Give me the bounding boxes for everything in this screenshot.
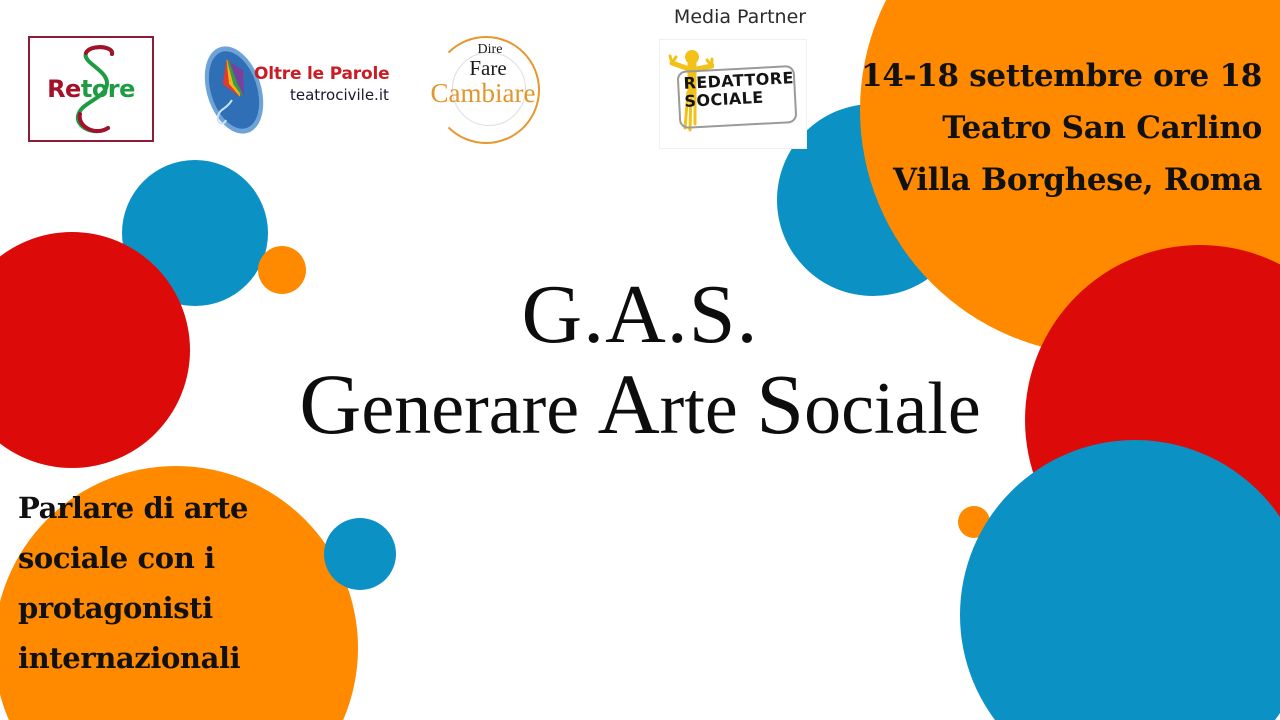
tagline: Parlare di arte sociale con i protagonis… (18, 483, 308, 683)
kite-icon (196, 42, 274, 138)
title-cap-g: G (299, 356, 361, 452)
event-details: 14-18 settembre ore 18 Teatro San Carlin… (861, 50, 1262, 206)
event-location-line: Villa Borghese, Roma (861, 154, 1262, 206)
circle-teal-small-bottom (324, 518, 396, 590)
oltre-le-parole-subtitle: teatrocivile.it (290, 86, 389, 104)
event-venue-line: Teatro San Carlino (861, 102, 1262, 154)
restore-wordmark: Retore (47, 75, 135, 103)
title-acronym: G.A.S. (0, 272, 1280, 358)
media-partner-block: Media Partner REDATTORE SOCIALE (650, 6, 830, 154)
redattore-sociale-logo: REDATTORE SOCIALE (659, 39, 807, 149)
title-rest-rte: rte (660, 368, 757, 450)
logo-restore: Retore (28, 36, 154, 142)
logo-strip: Retore Oltre le Parole teatrocivile.it (0, 0, 840, 160)
title-rest-ociale: ociale (804, 368, 981, 450)
logo-oltre-le-parole: Oltre le Parole teatrocivile.it (196, 42, 392, 138)
title-expansion: Generare Arte Sociale (0, 364, 1280, 449)
redattore-sociale-wordmark: REDATTORE SOCIALE (683, 69, 795, 111)
event-poster: Retore Oltre le Parole teatrocivile.it (0, 0, 1280, 720)
circle-teal-bottom-right (960, 440, 1280, 720)
page-title: G.A.S. Generare Arte Sociale (0, 272, 1280, 449)
restore-wordmark-tore: tore (81, 75, 135, 103)
title-cap-a: A (598, 356, 660, 452)
event-date-line: 14-18 settembre ore 18 (861, 50, 1262, 102)
title-cap-s: S (756, 356, 804, 452)
dfc-line-cambiare: Cambiare (422, 78, 544, 109)
logo-dire-fare-cambiare: Dire Fare Cambiare (426, 30, 544, 148)
oltre-le-parole-title: Oltre le Parole (254, 64, 389, 84)
media-partner-label: Media Partner (650, 6, 830, 28)
title-rest-enerare: enerare (361, 368, 597, 450)
restore-wordmark-re: Re (47, 75, 81, 103)
